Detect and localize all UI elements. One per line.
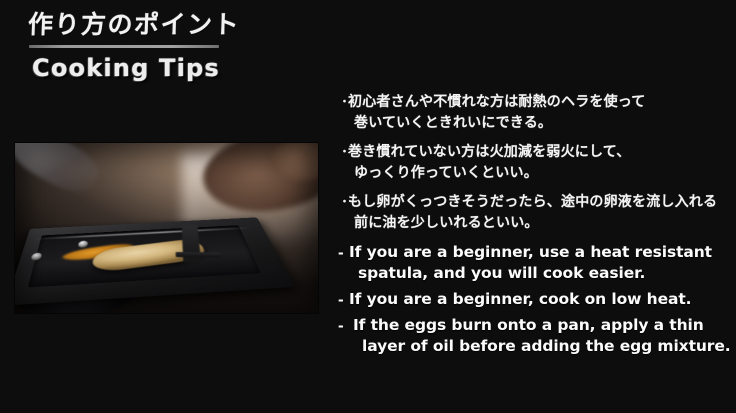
list-item: ・ 巻き慣れていない方は火加減を弱火にして、 ゆっくり作っていくといい。 bbox=[338, 142, 730, 184]
tip-line: もし卵がくっつきそうだったら、途中の卵液を流し入れる bbox=[348, 192, 730, 213]
tip-line: If you are a beginner, use a heat resist… bbox=[349, 242, 730, 263]
bullet-icon: ・ bbox=[338, 192, 348, 234]
tip-line: 初心者さんや不慣れな方は耐熱のヘラを使って bbox=[348, 92, 730, 113]
page-title-japanese: 作り方のポイント bbox=[27, 8, 328, 42]
english-tips-list: - If you are a beginner, use a heat resi… bbox=[338, 242, 730, 357]
dash-icon: - bbox=[338, 289, 349, 310]
list-item: - If you are a beginner, use a heat resi… bbox=[338, 242, 730, 284]
list-item: ・ 初心者さんや不慣れな方は耐熱のヘラを使って 巻いていくときれいにできる。 bbox=[338, 92, 730, 134]
dash-icon: - bbox=[338, 315, 353, 357]
spatula-head bbox=[175, 252, 222, 258]
tips-text-column: ・ 初心者さんや不慣れな方は耐熱のヘラを使って 巻いていくときれいにできる。 ・… bbox=[338, 92, 730, 362]
cooking-photo bbox=[15, 143, 318, 313]
tip-line: 巻き慣れていない方は火加減を弱火にして、 bbox=[348, 142, 730, 163]
page-title-english: Cooking Tips bbox=[32, 53, 328, 83]
tip-line: ゆっくり作っていくといい。 bbox=[348, 163, 730, 184]
tip-line: If you are a beginner, cook on low heat. bbox=[349, 289, 730, 310]
tip-line: If the eggs burn onto a pan, apply a thi… bbox=[353, 315, 731, 336]
list-item: - If the eggs burn onto a pan, apply a t… bbox=[338, 315, 730, 357]
japanese-tips-list: ・ 初心者さんや不慣れな方は耐熱のヘラを使って 巻いていくときれいにできる。 ・… bbox=[338, 92, 730, 234]
tip-line: layer of oil before adding the egg mixtu… bbox=[353, 336, 731, 357]
bullet-icon: ・ bbox=[338, 92, 348, 134]
tip-line: 前に油を少しいれるといい。 bbox=[348, 213, 730, 234]
list-item: ・ もし卵がくっつきそうだったら、途中の卵液を流し入れる 前に油を少しいれるとい… bbox=[338, 192, 730, 234]
bullet-icon: ・ bbox=[338, 142, 348, 184]
video-frame: 作り方のポイント Cooking Tips ・ 初 bbox=[0, 0, 736, 413]
title-divider bbox=[29, 45, 219, 48]
dash-icon: - bbox=[338, 242, 349, 284]
title-block: 作り方のポイント Cooking Tips bbox=[28, 8, 328, 83]
list-item: - If you are a beginner, cook on low hea… bbox=[338, 289, 730, 310]
tip-line: 巻いていくときれいにできる。 bbox=[348, 113, 730, 134]
tip-line: spatula, and you will cook easier. bbox=[349, 263, 730, 284]
